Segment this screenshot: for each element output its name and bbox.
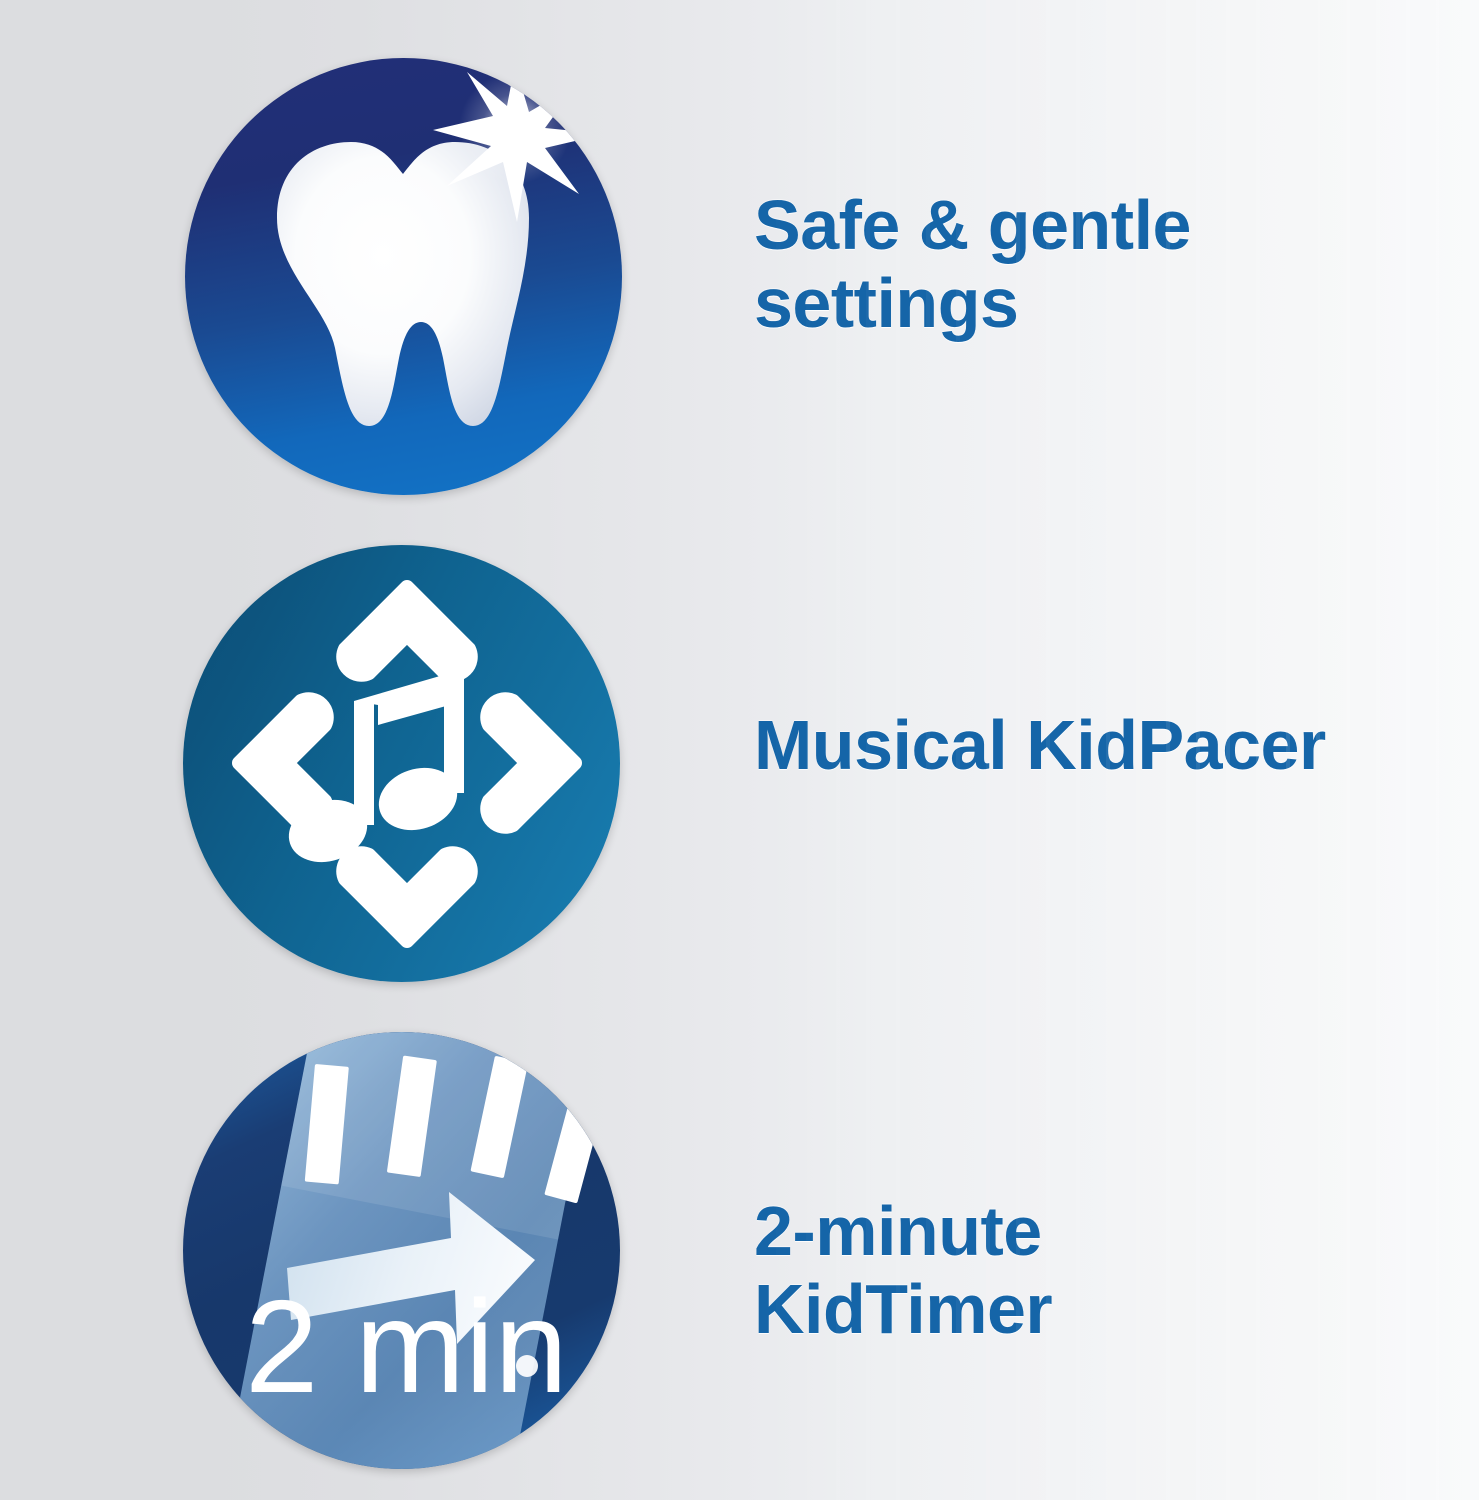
feature-label-safe-gentle-settings: Safe & gentle settings (754, 186, 1191, 343)
chevron-down-icon (343, 853, 471, 941)
feature-label-two-minute-kidtimer: 2-minute KidTimer (754, 1192, 1052, 1349)
music-note-directional-arrows-icon (183, 545, 620, 982)
chevron-up-icon (343, 587, 471, 675)
timer-caption: 2 min (245, 1273, 568, 1420)
two-minute-timer-icon: 2 min (183, 1032, 620, 1469)
music-note-glyph (183, 545, 620, 982)
tooth-sparkle-glyph (185, 58, 622, 495)
feature-label-musical-kidpacer: Musical KidPacer (754, 706, 1326, 784)
chevron-right-icon (487, 699, 575, 827)
tooth-sparkle-icon (185, 58, 622, 495)
feature-graphic: Safe & gentle settings (0, 0, 1479, 1500)
timer-panel-glyph: 2 min (183, 1032, 620, 1469)
